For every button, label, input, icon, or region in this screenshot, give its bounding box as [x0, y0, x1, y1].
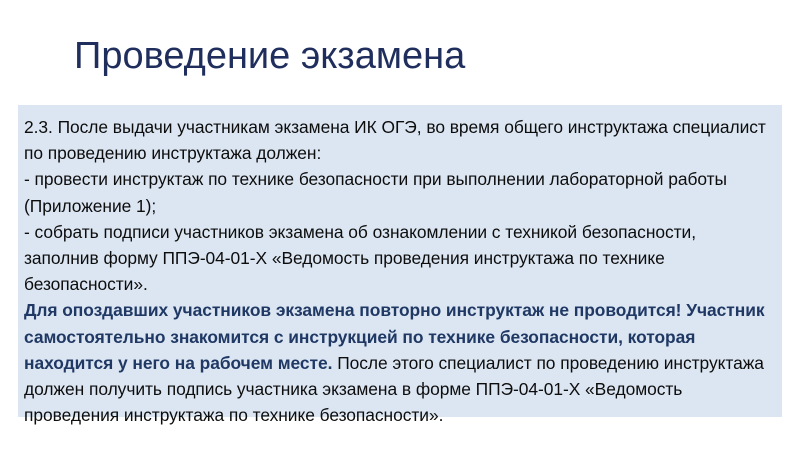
paragraph-2: - провести инструктаж по технике безопас… [24, 169, 727, 215]
slide-canvas: Проведение экзамена 2.3. После выдачи уч… [0, 0, 800, 450]
content-box: 2.3. После выдачи участникам экзамена ИК… [18, 105, 782, 417]
paragraph-3: - собрать подписи участников экзамена об… [24, 222, 696, 294]
paragraph-1: 2.3. После выдачи участникам экзамена ИК… [24, 117, 766, 163]
content-paragraph-block: 2.3. После выдачи участникам экзамена ИК… [24, 114, 772, 428]
page-title: Проведение экзамена [74, 33, 774, 79]
